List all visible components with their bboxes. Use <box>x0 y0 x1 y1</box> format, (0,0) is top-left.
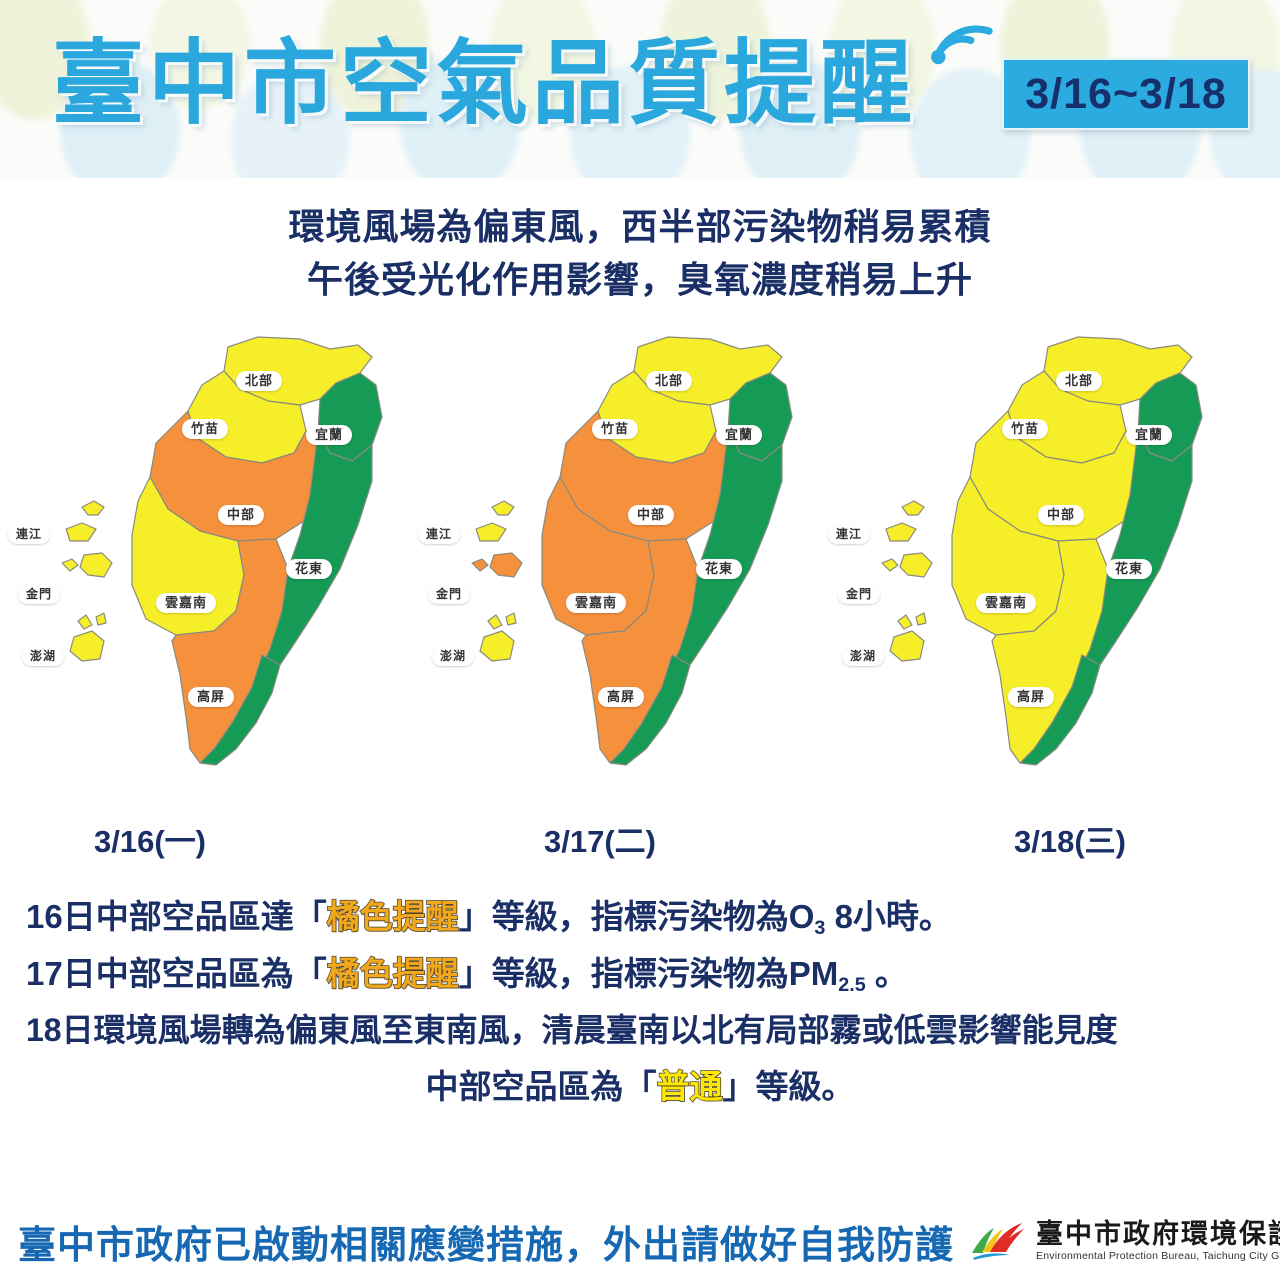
note3-prefix: 中部空品區為「 <box>426 1068 657 1105</box>
forecast-notes: 16日中部空品區達「橘色提醒」等級，指標污染物為O3 8小時。 17日中部空品區… <box>0 893 1280 1111</box>
epb-logo: 臺中市政府環境保護局 Environmental Protection Bure… <box>970 1219 1280 1263</box>
region-label-yunjianan: 雲嘉南 <box>566 593 626 613</box>
note1-prefix: 16日中部空品區達「 <box>26 898 327 935</box>
map-caption-0316: 3/16(一) <box>0 816 355 861</box>
region-label-zhumiao: 竹苗 <box>1002 419 1048 439</box>
note2-highlight: 橘色提醒 <box>327 955 459 992</box>
region-label-zhumiao: 竹苗 <box>182 419 228 439</box>
region-label-central: 中部 <box>218 505 264 525</box>
region-label-yilan: 宜蘭 <box>716 425 762 445</box>
subtitle-line-2: 午後受光化作用影響，臭氧濃度稍易上升 <box>0 253 1280 306</box>
note3-highlight: 普通 <box>657 1068 723 1105</box>
taiwan-map-svg-2 <box>410 325 820 825</box>
map-caption-0317: 3/17(二) <box>395 816 805 861</box>
island-label-penghu: 澎湖 <box>842 647 884 666</box>
region-label-yunjianan: 雲嘉南 <box>976 593 1036 613</box>
forecast-map-0316: 北部 竹苗 宜蘭 中部 花東 雲嘉南 高屏 連江 金門 澎湖 3/16(一) <box>0 325 410 825</box>
epb-mountain-logo-icon <box>970 1219 1028 1263</box>
note-line-3b: 中部空品區為「普通」等級。 <box>26 1063 1254 1111</box>
region-label-yilan: 宜蘭 <box>306 425 352 445</box>
note-line-3a: 18日環境風場轉為偏東風至東南風，清晨臺南以北有局部霧或低雲影響能見度 <box>26 1007 1254 1054</box>
note2-prefix: 17日中部空品區為「 <box>26 955 327 992</box>
note2-subscript: 2.5 <box>838 974 866 996</box>
taiwan-map-svg-3 <box>820 325 1230 825</box>
epb-name-cn: 臺中市政府環境保護局 <box>1036 1220 1280 1248</box>
map-caption-0318: 3/18(三) <box>865 816 1275 861</box>
region-label-yunjianan: 雲嘉南 <box>156 593 216 613</box>
note2-mid: 」等級，指標污染物為PM <box>459 955 839 992</box>
note-line-1: 16日中部空品區達「橘色提醒」等級，指標污染物為O3 8小時。 <box>26 893 1254 941</box>
region-label-north: 北部 <box>236 371 282 391</box>
note2-suffix: 。 <box>866 955 908 992</box>
island-label-penghu: 澎湖 <box>432 647 474 666</box>
note1-highlight: 橘色提醒 <box>327 898 459 935</box>
region-label-yilan: 宜蘭 <box>1126 425 1172 445</box>
island-label-kinmen: 金門 <box>18 585 60 604</box>
region-label-gaoping: 高屏 <box>1008 687 1054 707</box>
taiwan-map-svg-1 <box>0 325 410 825</box>
note-line-2: 17日中部空品區為「橘色提醒」等級，指標污染物為PM2.5 。 <box>26 950 1254 998</box>
note3-suffix: 」等級。 <box>723 1068 855 1105</box>
note1-suffix: 8小時。 <box>825 898 952 935</box>
region-label-huadong: 花東 <box>696 559 742 579</box>
region-label-central: 中部 <box>628 505 674 525</box>
region-label-north: 北部 <box>646 371 692 391</box>
island-label-kinmen: 金門 <box>428 585 470 604</box>
region-label-central: 中部 <box>1038 505 1084 525</box>
note1-subscript: 3 <box>814 917 825 939</box>
forecast-map-0317: 北部 竹苗 宜蘭 中部 花東 雲嘉南 高屏 連江 金門 澎湖 3/17(二) <box>410 325 820 825</box>
page-header: 臺中市空氣品質提醒 3/16~3/18 <box>0 0 1280 178</box>
island-label-penghu: 澎湖 <box>22 647 64 666</box>
page-footer: 臺中市政府已啟動相關應變措施，外出請做好自我防護 臺中市政府環境保護局 Envi… <box>0 1202 1280 1280</box>
region-label-huadong: 花東 <box>286 559 332 579</box>
island-label-matsu: 連江 <box>828 525 870 544</box>
footer-message: 臺中市政府已啟動相關應變措施，外出請做好自我防護 <box>18 1214 954 1269</box>
subtitle-line-1: 環境風場為偏東風，西半部污染物稍易累積 <box>0 200 1280 253</box>
region-label-north: 北部 <box>1056 371 1102 391</box>
epb-name-en: Environmental Protection Bureau, Taichun… <box>1036 1250 1280 1262</box>
epb-logo-text: 臺中市政府環境保護局 Environmental Protection Bure… <box>1036 1220 1280 1262</box>
region-label-huadong: 花東 <box>1106 559 1152 579</box>
note1-mid: 」等級，指標污染物為O <box>459 898 815 935</box>
forecast-maps-row: 北部 竹苗 宜蘭 中部 花東 雲嘉南 高屏 連江 金門 澎湖 3/16(一) <box>0 325 1280 825</box>
page-title: 臺中市空氣品質提醒 <box>52 38 916 130</box>
forecast-map-0318: 北部 竹苗 宜蘭 中部 花東 雲嘉南 高屏 連江 金門 澎湖 3/18(三) <box>820 325 1230 825</box>
island-label-matsu: 連江 <box>8 525 50 544</box>
island-label-matsu: 連江 <box>418 525 460 544</box>
date-range-badge: 3/16~3/18 <box>1002 58 1250 130</box>
island-label-kinmen: 金門 <box>838 585 880 604</box>
region-label-gaoping: 高屏 <box>188 687 234 707</box>
region-label-zhumiao: 竹苗 <box>592 419 638 439</box>
region-label-gaoping: 高屏 <box>598 687 644 707</box>
subtitle-block: 環境風場為偏東風，西半部污染物稍易累積 午後受光化作用影響，臭氧濃度稍易上升 <box>0 200 1280 307</box>
